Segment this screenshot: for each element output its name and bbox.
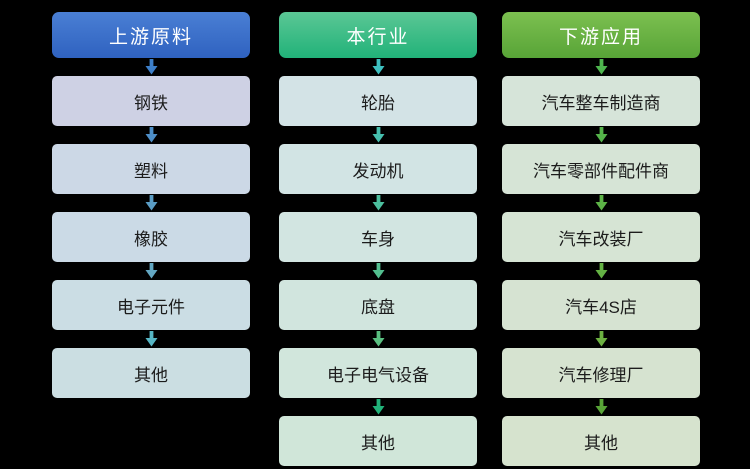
chain-node[interactable]: 汽车改装厂 <box>502 212 700 262</box>
arrow-down-icon <box>279 398 477 416</box>
arrow-down-icon <box>502 262 700 280</box>
chain-column-industry: 本行业轮胎发动机车身底盘电子电气设备其他 <box>279 12 477 466</box>
chain-node[interactable]: 轮胎 <box>279 76 477 126</box>
chain-node[interactable]: 钢铁 <box>52 76 250 126</box>
arrow-down-icon <box>502 398 700 416</box>
arrow-down-icon <box>279 194 477 212</box>
industry-chain-diagram: 上游原料钢铁塑料橡胶电子元件其他本行业轮胎发动机车身底盘电子电气设备其他下游应用… <box>0 0 750 469</box>
arrow-down-icon <box>502 330 700 348</box>
arrow-down-icon <box>52 126 250 144</box>
chain-node[interactable]: 其他 <box>52 348 250 398</box>
column-header-industry[interactable]: 本行业 <box>279 12 477 58</box>
chain-node[interactable]: 汽车整车制造商 <box>502 76 700 126</box>
chain-node[interactable]: 橡胶 <box>52 212 250 262</box>
arrow-down-icon <box>502 58 700 76</box>
chain-node[interactable]: 车身 <box>279 212 477 262</box>
chain-node[interactable]: 底盘 <box>279 280 477 330</box>
arrow-down-icon <box>279 330 477 348</box>
chain-column-upstream: 上游原料钢铁塑料橡胶电子元件其他 <box>52 12 250 398</box>
chain-column-downstream: 下游应用汽车整车制造商汽车零部件配件商汽车改装厂汽车4S店汽车修理厂其他 <box>502 12 700 466</box>
chain-node[interactable]: 汽车4S店 <box>502 280 700 330</box>
chain-node[interactable]: 其他 <box>502 416 700 466</box>
arrow-down-icon <box>279 262 477 280</box>
chain-node[interactable]: 电子元件 <box>52 280 250 330</box>
chain-node[interactable]: 电子电气设备 <box>279 348 477 398</box>
chain-node[interactable]: 汽车零部件配件商 <box>502 144 700 194</box>
arrow-down-icon <box>502 126 700 144</box>
column-header-downstream[interactable]: 下游应用 <box>502 12 700 58</box>
column-header-upstream[interactable]: 上游原料 <box>52 12 250 58</box>
arrow-down-icon <box>52 330 250 348</box>
arrow-down-icon <box>52 194 250 212</box>
chain-node[interactable]: 其他 <box>279 416 477 466</box>
arrow-down-icon <box>279 58 477 76</box>
arrow-down-icon <box>52 262 250 280</box>
arrow-down-icon <box>502 194 700 212</box>
chain-node[interactable]: 汽车修理厂 <box>502 348 700 398</box>
arrow-down-icon <box>52 58 250 76</box>
chain-node[interactable]: 发动机 <box>279 144 477 194</box>
chain-node[interactable]: 塑料 <box>52 144 250 194</box>
arrow-down-icon <box>279 126 477 144</box>
